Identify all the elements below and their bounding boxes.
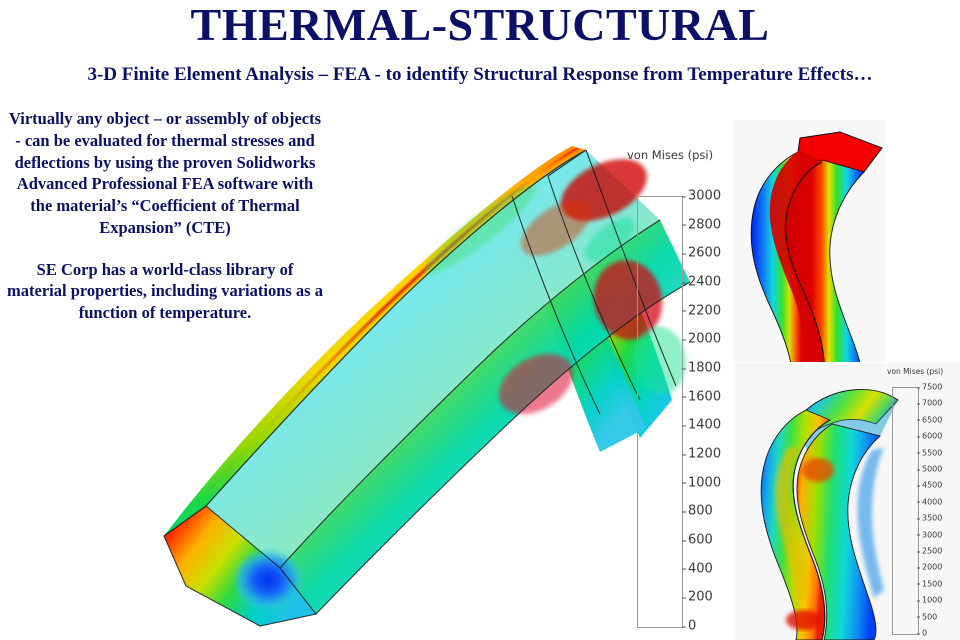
legend-tick-label: 1600 — [688, 389, 721, 404]
legend-tick-mark — [682, 196, 686, 197]
page-title: THERMAL-STRUCTURAL — [0, 0, 960, 51]
legend-tick-label: 2500 — [922, 547, 942, 556]
legend-tick-label: 1800 — [688, 361, 721, 376]
legend-von-mises-main: von Mises (psi) 300028002600240022002000… — [620, 140, 735, 640]
legend-tick-mark — [917, 502, 920, 503]
legend-tick: 400 — [688, 561, 713, 576]
legend-tick-label: 7000 — [922, 399, 942, 408]
legend-tick-mark — [917, 453, 920, 454]
legend-tick: 500 — [922, 612, 937, 621]
legend-tick-mark — [917, 420, 920, 421]
legend-tick-mark — [917, 518, 920, 519]
legend-tick-mark — [917, 567, 920, 568]
legend-tick-mark — [917, 485, 920, 486]
legend-tick-mark — [917, 469, 920, 470]
page-subtitle: 3-D Finite Element Analysis – FEA - to i… — [0, 64, 960, 86]
legend-tick-label: 400 — [688, 561, 713, 576]
legend-tick: 3000 — [688, 189, 721, 204]
legend-tick-label: 2200 — [688, 303, 721, 318]
legend-tick-mark — [917, 633, 920, 634]
legend-tick: 1200 — [688, 447, 721, 462]
legend-tick-mark — [682, 540, 686, 541]
legend-tick-label: 500 — [922, 612, 937, 621]
legend-tick: 4500 — [922, 481, 942, 490]
legend-tick-mark — [682, 425, 686, 426]
legend-tick: 7500 — [922, 383, 942, 392]
legend-tick-mark — [682, 253, 686, 254]
legend-tick: 7000 — [922, 399, 942, 408]
legend-tick: 5000 — [922, 465, 942, 474]
legend-tick-label: 1200 — [688, 447, 721, 462]
legend-tick: 2000 — [922, 563, 942, 572]
legend-tick-label: 1000 — [688, 475, 721, 490]
legend-tick-label: 4500 — [922, 481, 942, 490]
legend-tick: 0 — [922, 629, 927, 638]
legend-tick-label: 800 — [688, 504, 713, 519]
legend-tick-mark — [682, 626, 686, 627]
legend-tick-mark — [917, 436, 920, 437]
body-paragraph-2: SE Corp has a world-class library of mat… — [6, 259, 324, 324]
legend-tick: 3500 — [922, 514, 942, 523]
legend-tick-mark — [682, 511, 686, 512]
legend-color-bar — [637, 196, 683, 628]
legend-color-bar — [892, 387, 919, 635]
legend-von-mises-secondary: von Mises (psi) 750070006500600055005000… — [884, 363, 960, 640]
legend-tick: 800 — [688, 504, 713, 519]
legend-tick-mark — [917, 403, 920, 404]
legend-tick-list: 3000280026002400220020001800160014001200… — [688, 196, 734, 626]
legend-tick-label: 2600 — [688, 246, 721, 261]
legend-tick: 6000 — [922, 432, 942, 441]
legend-tick-mark — [917, 584, 920, 585]
legend-tick-label: 1400 — [688, 418, 721, 433]
legend-tick-label: 1500 — [922, 579, 942, 588]
legend-tick-list: 7500700065006000550050004500400035003000… — [922, 387, 958, 633]
legend-tick-label: 600 — [688, 533, 713, 548]
legend-tick-mark — [682, 225, 686, 226]
legend-tick: 0 — [688, 619, 696, 634]
legend-tick-label: 7500 — [922, 383, 942, 392]
body-copy: Virtually any object – or assembly of ob… — [6, 108, 324, 324]
legend-tick: 4000 — [922, 497, 942, 506]
body-paragraph-1: Virtually any object – or assembly of ob… — [6, 108, 324, 239]
legend-tick-mark — [682, 454, 686, 455]
legend-tick-mark — [682, 569, 686, 570]
legend-tick: 2200 — [688, 303, 721, 318]
legend-tick-label: 1000 — [922, 596, 942, 605]
legend-tick-mark — [917, 535, 920, 536]
legend-tick-mark — [682, 311, 686, 312]
legend-tick: 2000 — [688, 332, 721, 347]
legend-tick: 6500 — [922, 415, 942, 424]
legend-tick: 2400 — [688, 275, 721, 290]
legend-tick: 3000 — [922, 530, 942, 539]
legend-title: von Mises (psi) — [887, 367, 943, 376]
legend-tick-label: 3500 — [922, 514, 942, 523]
legend-tick: 2600 — [688, 246, 721, 261]
paragraph-spacer — [6, 239, 324, 259]
legend-tick: 1600 — [688, 389, 721, 404]
legend-tick: 1500 — [922, 579, 942, 588]
legend-tick-mark — [682, 397, 686, 398]
legend-tick-mark — [917, 551, 920, 552]
legend-tick: 1400 — [688, 418, 721, 433]
legend-tick-label: 0 — [922, 629, 927, 638]
legend-tick-mark — [917, 617, 920, 618]
legend-title: von Mises (psi) — [627, 148, 713, 162]
legend-tick: 5500 — [922, 448, 942, 457]
legend-tick-label: 2800 — [688, 217, 721, 232]
legend-tick-label: 6000 — [922, 432, 942, 441]
legend-tick: 600 — [688, 533, 713, 548]
legend-tick-label: 2000 — [688, 332, 721, 347]
legend-tick-label: 0 — [688, 619, 696, 634]
legend-tick: 2500 — [922, 547, 942, 556]
legend-tick: 2800 — [688, 217, 721, 232]
legend-tick-label: 200 — [688, 590, 713, 605]
legend-tick: 1000 — [688, 475, 721, 490]
legend-tick-label: 5500 — [922, 448, 942, 457]
legend-tick-mark — [682, 597, 686, 598]
legend-tick-mark — [682, 339, 686, 340]
legend-tick-label: 4000 — [922, 497, 942, 506]
legend-tick-label: 2000 — [922, 563, 942, 572]
legend-tick: 200 — [688, 590, 713, 605]
legend-tick-label: 3000 — [922, 530, 942, 539]
legend-tick: 1000 — [922, 596, 942, 605]
legend-tick-mark — [682, 282, 686, 283]
legend-tick-mark — [917, 600, 920, 601]
legend-tick-mark — [682, 483, 686, 484]
legend-tick-mark — [682, 368, 686, 369]
legend-tick-mark — [917, 387, 920, 388]
legend-tick-label: 5000 — [922, 465, 942, 474]
legend-tick-label: 6500 — [922, 415, 942, 424]
legend-tick: 1800 — [688, 361, 721, 376]
inset-panel-top — [733, 120, 885, 362]
legend-tick-label: 2400 — [688, 275, 721, 290]
legend-tick-label: 3000 — [688, 189, 721, 204]
